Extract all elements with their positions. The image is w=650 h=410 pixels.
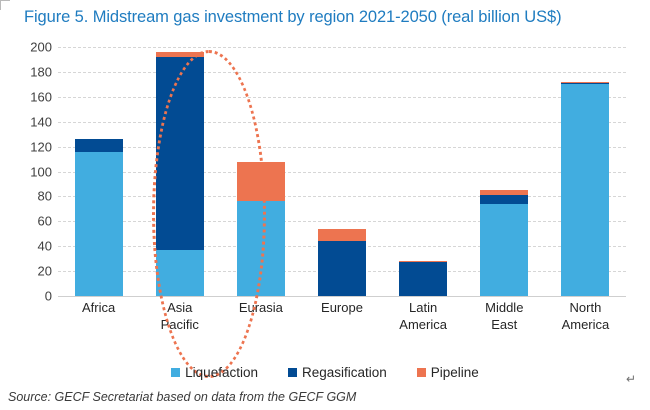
bar-segment-pipeline[interactable]: [156, 52, 204, 57]
bar-segment-pipeline[interactable]: [480, 190, 528, 195]
plot-area: [58, 47, 626, 296]
y-tick-label-60: 60: [38, 214, 52, 229]
y-tick-label-0: 0: [45, 289, 52, 304]
bar-segment-pipeline[interactable]: [318, 229, 366, 241]
legend-item-regasification[interactable]: Regasification: [288, 365, 387, 380]
bar-group[interactable]: [480, 47, 528, 296]
x-label-line: Middle: [464, 300, 545, 317]
legend-label: Regasification: [302, 365, 387, 380]
bar-segment-liquefaction[interactable]: [75, 152, 123, 296]
chart-legend: LiquefactionRegasificationPipeline: [0, 361, 650, 383]
y-tick-label-80: 80: [38, 189, 52, 204]
y-tick-label-160: 160: [30, 89, 52, 104]
x-label-latin-america: LatinAmerica: [383, 300, 464, 333]
x-label-line: Asia: [139, 300, 220, 317]
x-label-line: America: [383, 317, 464, 334]
x-label-line: America: [545, 317, 626, 334]
x-label-line: Eurasia: [220, 300, 301, 317]
y-tick-label-20: 20: [38, 264, 52, 279]
y-axis-tick-labels: 020406080100120140160180200: [0, 47, 52, 296]
bar-group[interactable]: [237, 47, 285, 296]
x-label-line: Europe: [301, 300, 382, 317]
x-label-africa: Africa: [58, 300, 139, 317]
x-label-north-america: NorthAmerica: [545, 300, 626, 333]
bar-group[interactable]: [399, 47, 447, 296]
bar-segment-regasification[interactable]: [75, 139, 123, 151]
stacked-bar[interactable]: [318, 229, 366, 296]
legend-swatch-icon: [417, 368, 426, 377]
x-label-eurasia: Eurasia: [220, 300, 301, 317]
return-mark-icon: ↵: [626, 372, 636, 386]
x-label-line: East: [464, 317, 545, 334]
source-note: Source: GECF Secretariat based on data f…: [8, 390, 356, 404]
bar-segment-regasification[interactable]: [156, 57, 204, 250]
legend-item-liquefaction[interactable]: Liquefaction: [171, 365, 258, 380]
bar-segment-pipeline[interactable]: [561, 82, 609, 83]
bar-group[interactable]: [561, 47, 609, 296]
bar-segment-liquefaction[interactable]: [156, 250, 204, 296]
legend-swatch-icon: [171, 368, 180, 377]
bar-segment-regasification[interactable]: [480, 195, 528, 204]
bar-segment-liquefaction[interactable]: [237, 201, 285, 296]
bar-segment-pipeline[interactable]: [237, 162, 285, 202]
page-corner-mark: [0, 0, 10, 10]
bar-group[interactable]: [156, 47, 204, 296]
y-tick-label-200: 200: [30, 40, 52, 55]
legend-swatch-icon: [288, 368, 297, 377]
stacked-bar[interactable]: [75, 139, 123, 296]
stacked-bar[interactable]: [480, 190, 528, 296]
y-tick-label-140: 140: [30, 114, 52, 129]
bar-group[interactable]: [75, 47, 123, 296]
stacked-bar[interactable]: [399, 261, 447, 296]
x-axis-category-labels: AfricaAsiaPacificEurasiaEuropeLatinAmeri…: [58, 300, 626, 344]
bar-segment-liquefaction[interactable]: [561, 84, 609, 296]
bar-segment-liquefaction[interactable]: [480, 204, 528, 296]
y-tick-label-180: 180: [30, 64, 52, 79]
stacked-bar[interactable]: [156, 52, 204, 296]
chart-title: Figure 5. Midstream gas investment by re…: [24, 8, 561, 27]
x-label-line: North: [545, 300, 626, 317]
y-tick-label-100: 100: [30, 164, 52, 179]
x-label-europe: Europe: [301, 300, 382, 317]
y-tick-label-40: 40: [38, 239, 52, 254]
stacked-bar[interactable]: [561, 82, 609, 296]
y-tick-label-120: 120: [30, 139, 52, 154]
legend-label: Liquefaction: [185, 365, 258, 380]
bar-segment-pipeline[interactable]: [399, 261, 447, 262]
stacked-bar[interactable]: [237, 162, 285, 296]
x-label-line: Africa: [58, 300, 139, 317]
bar-segment-regasification[interactable]: [399, 262, 447, 296]
bar-segment-regasification[interactable]: [561, 83, 609, 84]
x-axis-baseline: [58, 296, 626, 297]
bar-segment-regasification[interactable]: [318, 241, 366, 296]
x-label-asia-pacific: AsiaPacific: [139, 300, 220, 333]
bar-group[interactable]: [318, 47, 366, 296]
x-label-line: Latin: [383, 300, 464, 317]
x-label-line: Pacific: [139, 317, 220, 334]
legend-label: Pipeline: [431, 365, 479, 380]
legend-item-pipeline[interactable]: Pipeline: [417, 365, 479, 380]
figure-container: Figure 5. Midstream gas investment by re…: [0, 0, 650, 410]
x-label-middle-east: MiddleEast: [464, 300, 545, 333]
